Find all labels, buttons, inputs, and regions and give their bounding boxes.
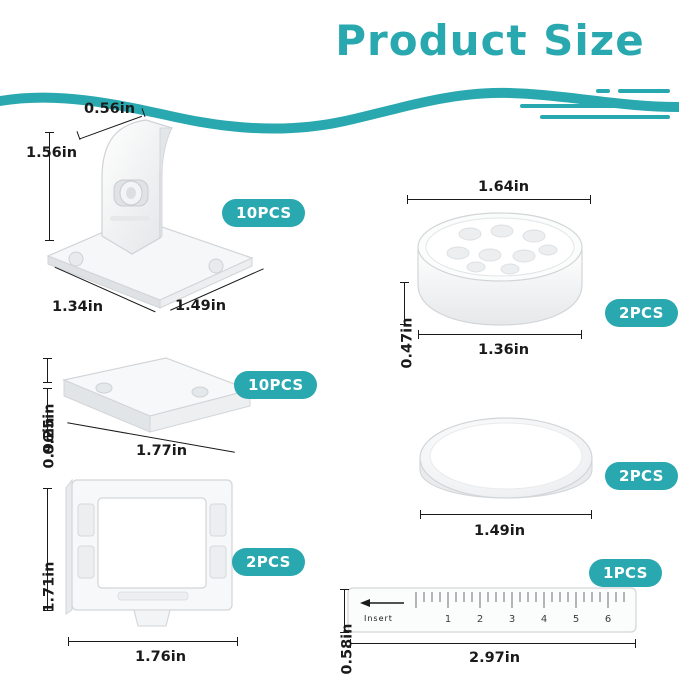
- dim-cap-1-56in-bottom: [45, 240, 54, 241]
- dim-cap-1-49in-lid-left: [420, 510, 421, 519]
- badge-corner-lock-qty: 10PCS: [222, 199, 305, 227]
- dim-cap-0-96in-bottom: [43, 436, 52, 437]
- dim-cap-0-58in-bottom: [340, 632, 349, 633]
- dim-cap-1-56in-top: [45, 132, 54, 133]
- dim-label-1-34in: 1.34in: [52, 299, 103, 315]
- dim-label-1-77in: 1.77in: [136, 443, 187, 459]
- dim-label-1-36in: 1.36in: [478, 342, 529, 358]
- badge-round-lid-qty: 2PCS: [605, 462, 678, 490]
- dim-line-0-25in: [47, 358, 48, 382]
- dim-label-1-56in: 1.56in: [26, 146, 46, 161]
- dim-line-1-64in: [407, 199, 591, 200]
- dim-cap-0-25in-bottom: [43, 382, 52, 383]
- svg-text:Insert: Insert: [364, 614, 393, 623]
- page-title: Product Size: [310, 16, 670, 65]
- dim-cap-0-96in-top: [43, 388, 52, 389]
- dim-cap-1-71in-bottom: [43, 610, 52, 611]
- dim-cap-0-47in-top: [400, 282, 409, 283]
- rule-long-1: [520, 104, 670, 108]
- badge-ruler-strip-qty: 1PCS: [589, 559, 662, 587]
- dim-cap-1-36in-left: [418, 330, 419, 339]
- rule-short-dash: [596, 89, 610, 93]
- svg-text:6: 6: [605, 614, 611, 625]
- dim-cap-0-47in-bottom: [400, 324, 409, 325]
- product-round-holder: [408, 209, 598, 334]
- title-underline-rules: [500, 86, 670, 126]
- badge-flat-plate-qty: 10PCS: [234, 371, 317, 399]
- dim-line-1-49in-lid: [420, 514, 592, 515]
- badge-round-holder-qty: 2PCS: [605, 299, 678, 327]
- badge-square-frame-qty: 2PCS: [232, 548, 305, 576]
- dim-line-0-47in: [404, 282, 405, 324]
- dim-label-0-56in: 0.56in: [84, 101, 135, 117]
- svg-text:4: 4: [541, 614, 547, 625]
- dim-label-1-49in-lid: 1.49in: [474, 523, 525, 539]
- svg-text:2: 2: [477, 614, 483, 625]
- product-size-infographic: Product Size: [0, 0, 679, 672]
- dim-label-2-97in: 2.97in: [469, 650, 520, 666]
- svg-text:1: 1: [445, 614, 451, 625]
- svg-text:5: 5: [573, 614, 579, 625]
- dim-cap-1-36in-right: [581, 330, 582, 339]
- product-ruler-strip: Insert 123 456: [348, 588, 638, 640]
- dim-cap-1-71in-top: [43, 488, 52, 489]
- dim-cap-2-97in-left: [350, 639, 351, 648]
- product-square-frame: [58, 474, 258, 634]
- rule-long-2: [540, 115, 670, 119]
- dim-line-1-56in: [49, 132, 50, 240]
- dim-line-0-58in: [344, 589, 345, 633]
- dim-cap-0-25in-top: [43, 358, 52, 359]
- dim-label-1-49in-lock: 1.49in: [175, 298, 226, 314]
- rule-medium-dash: [618, 89, 670, 93]
- dim-label-1-76in: 1.76in: [135, 649, 186, 665]
- dim-cap-1-49in-lid-right: [591, 510, 592, 519]
- product-flat-plate: [54, 352, 264, 452]
- dim-cap-1-76in-left: [68, 637, 69, 646]
- svg-text:3: 3: [509, 614, 515, 625]
- product-round-lid: [416, 412, 596, 504]
- dim-line-0-96in: [47, 388, 48, 436]
- dim-cap-0-58in-top: [340, 589, 349, 590]
- dim-cap-1-64in-right: [590, 195, 591, 204]
- dim-cap-2-97in-right: [635, 639, 636, 648]
- dim-line-1-71in: [47, 488, 48, 610]
- dim-line-2-97in: [350, 643, 636, 644]
- dim-cap-1-64in-left: [407, 195, 408, 204]
- dim-cap-1-76in-right: [237, 637, 238, 646]
- dim-label-1-64in: 1.64in: [478, 179, 529, 195]
- dim-line-1-36in: [418, 334, 582, 335]
- dim-label-0-96in: 0.96in: [42, 418, 58, 469]
- dim-line-1-76in: [68, 641, 238, 642]
- dim-label-1-71in: 1.71in: [42, 562, 58, 613]
